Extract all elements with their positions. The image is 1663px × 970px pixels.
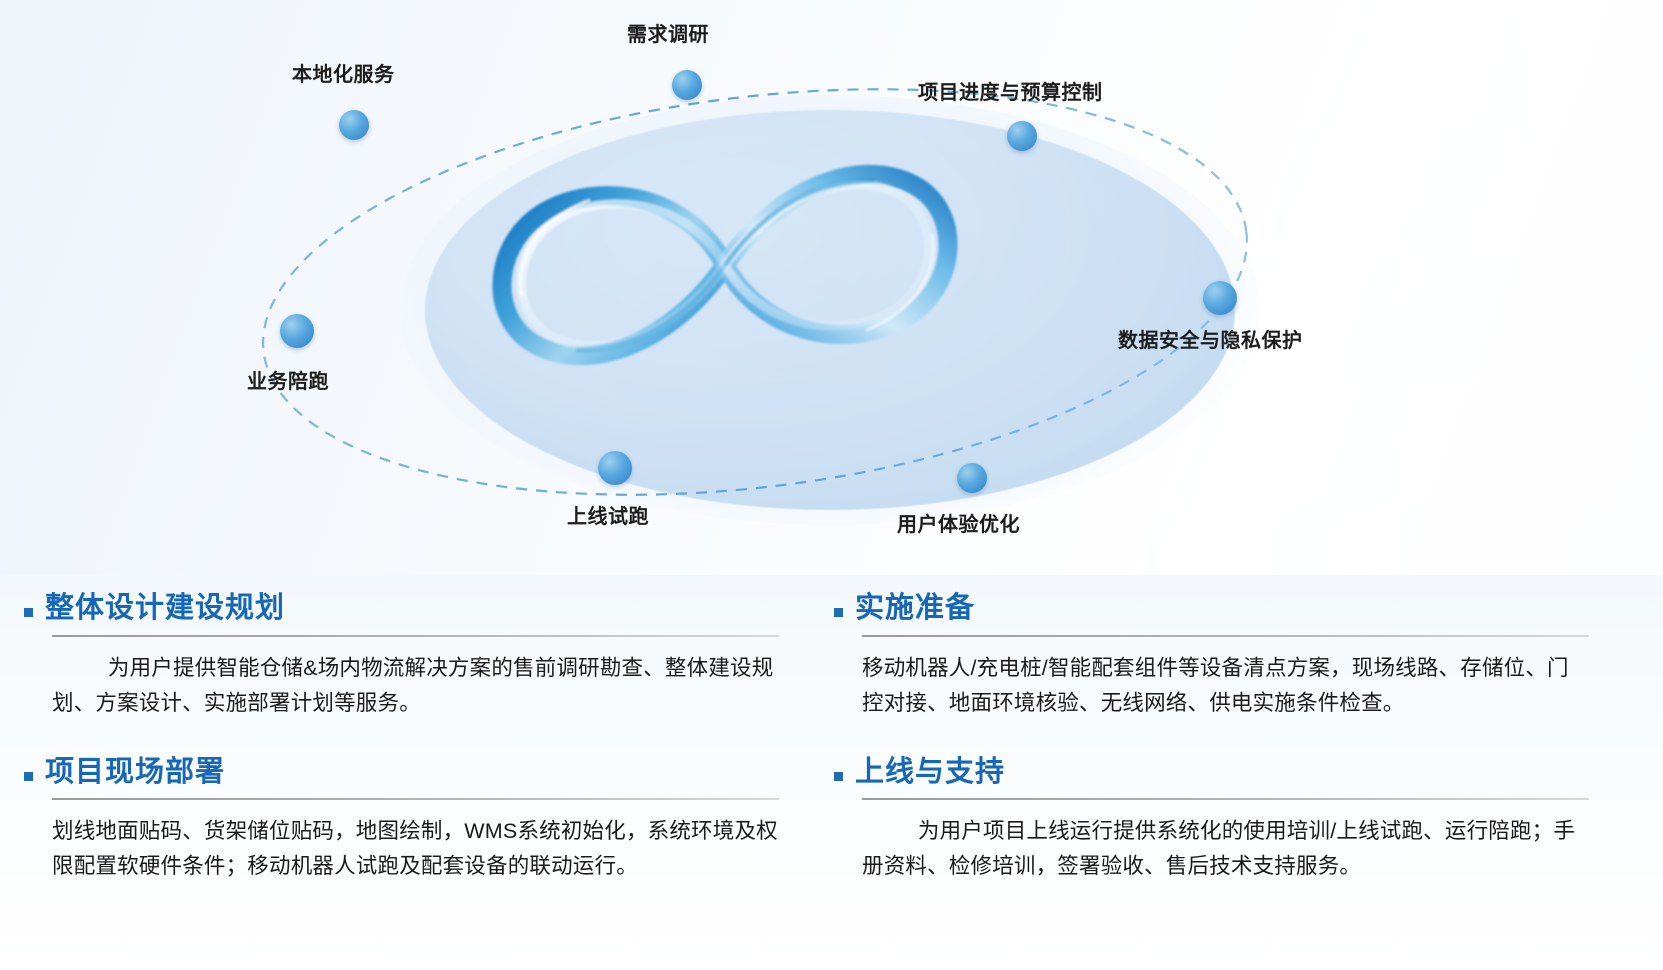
section-overall-design-planning: 整体设计建设规划 为用户提供智能仓储&场内物流解决方案的售前调研勘查、整体建设规… bbox=[20, 593, 780, 721]
section-header: 项目现场部署 bbox=[20, 757, 780, 789]
section-header: 实施准备 bbox=[830, 593, 1590, 625]
node-business-accompaniment-label: 业务陪跑 bbox=[247, 365, 329, 394]
node-requirement-research-dot[interactable] bbox=[672, 70, 702, 100]
section-divider bbox=[862, 635, 1589, 637]
square-bullet-icon bbox=[24, 608, 33, 617]
section-divider bbox=[862, 798, 1589, 800]
node-data-security-privacy-dot[interactable] bbox=[1203, 281, 1237, 315]
section-title: 实施准备 bbox=[855, 593, 975, 625]
section-title: 上线与支持 bbox=[855, 757, 1005, 789]
section-body: 划线地面贴码、货架储位贴码，地图绘制，WMS系统初始化，系统环境及权限配置软硬件… bbox=[52, 814, 779, 884]
node-schedule-budget-control-label: 项目进度与预算控制 bbox=[918, 76, 1103, 105]
section-onsite-deployment: 项目现场部署 划线地面贴码、货架储位贴码，地图绘制，WMS系统初始化，系统环境及… bbox=[20, 757, 780, 885]
node-business-accompaniment-dot[interactable] bbox=[280, 314, 314, 348]
infinity-symbol-icon bbox=[470, 140, 980, 390]
section-body: 为用户提供智能仓储&场内物流解决方案的售前调研勘查、整体建设规划、方案设计、实施… bbox=[52, 651, 779, 721]
node-requirement-research-label: 需求调研 bbox=[627, 18, 709, 47]
section-implementation-preparation: 实施准备 移动机器人/充电桩/智能配套组件等设备清点方案，现场线路、存储位、门控… bbox=[830, 593, 1590, 721]
section-body: 移动机器人/充电桩/智能配套组件等设备清点方案，现场线路、存储位、门控对接、地面… bbox=[862, 651, 1589, 721]
column-left: 整体设计建设规划 为用户提供智能仓储&场内物流解决方案的售前调研勘查、整体建设规… bbox=[20, 593, 780, 902]
section-divider bbox=[52, 635, 779, 637]
section-golive-and-support: 上线与支持 为用户项目上线运行提供系统化的使用培训/上线试跑、运行陪跑；手册资料… bbox=[830, 757, 1590, 885]
column-right: 实施准备 移动机器人/充电桩/智能配套组件等设备清点方案，现场线路、存储位、门控… bbox=[830, 593, 1590, 902]
node-data-security-privacy-label: 数据安全与隐私保护 bbox=[1118, 324, 1303, 353]
node-ux-optimization-dot[interactable] bbox=[957, 463, 987, 493]
section-header: 整体设计建设规划 bbox=[20, 593, 780, 625]
node-golive-trial-label: 上线试跑 bbox=[567, 500, 649, 529]
section-header: 上线与支持 bbox=[830, 757, 1590, 789]
square-bullet-icon bbox=[834, 772, 843, 781]
square-bullet-icon bbox=[24, 772, 33, 781]
node-localized-service-label: 本地化服务 bbox=[292, 58, 395, 87]
section-title: 整体设计建设规划 bbox=[45, 593, 285, 625]
node-ux-optimization-label: 用户体验优化 bbox=[897, 508, 1020, 537]
square-bullet-icon bbox=[834, 608, 843, 617]
node-localized-service-dot[interactable] bbox=[339, 110, 369, 140]
section-title: 项目现场部署 bbox=[45, 757, 225, 789]
node-golive-trial-dot[interactable] bbox=[598, 451, 632, 485]
section-divider bbox=[52, 798, 779, 800]
content-area: 整体设计建设规划 为用户提供智能仓储&场内物流解决方案的售前调研勘查、整体建设规… bbox=[0, 575, 1663, 970]
node-schedule-budget-control-dot[interactable] bbox=[1007, 121, 1037, 151]
hero-diagram: 需求调研 本地化服务 项目进度与预算控制 数据安全与隐私保护 业务陪跑 上线试跑… bbox=[0, 0, 1663, 575]
section-body: 为用户项目上线运行提供系统化的使用培训/上线试跑、运行陪跑；手册资料、检修培训，… bbox=[862, 814, 1589, 884]
